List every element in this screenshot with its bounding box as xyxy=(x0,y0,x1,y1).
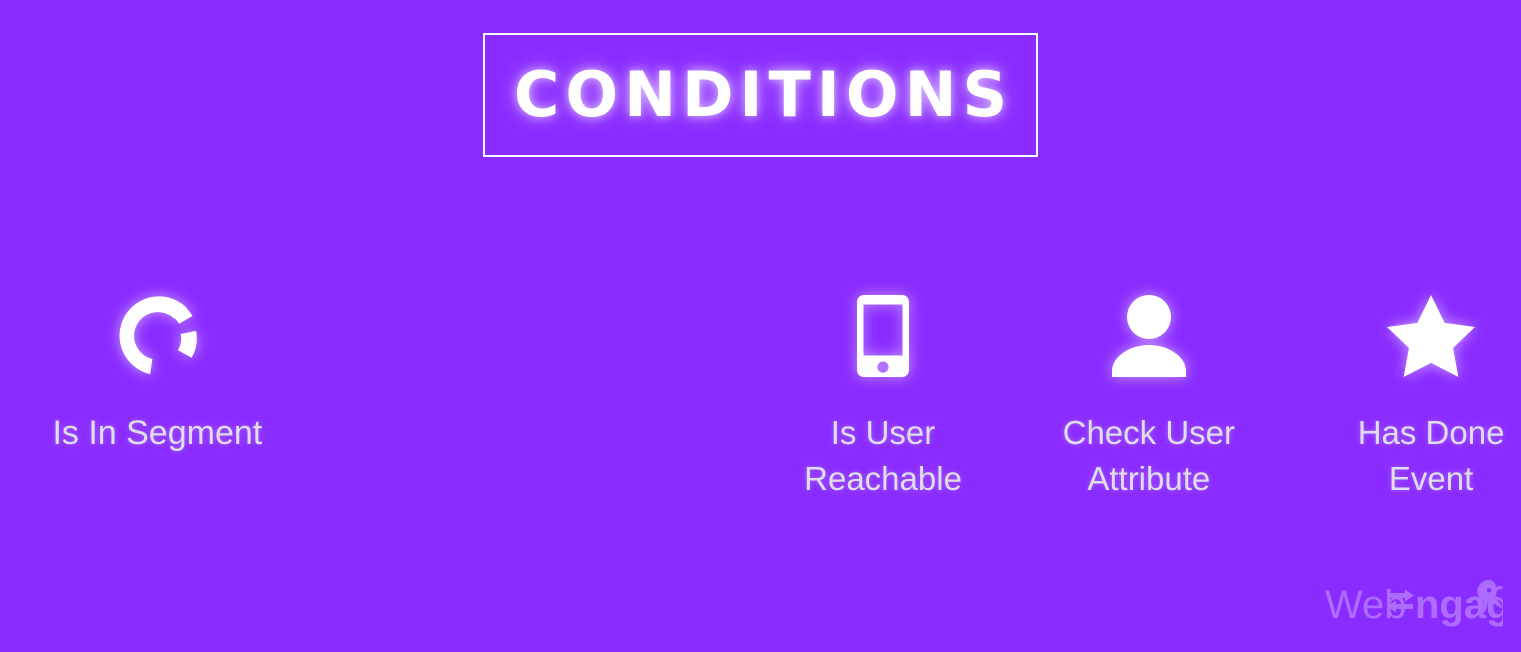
condition-card-label: Is In Segment xyxy=(52,410,262,456)
mobile-phone-icon xyxy=(857,288,909,384)
condition-card-label: Is User Reachable xyxy=(804,410,962,502)
condition-card-is-user-reachable[interactable]: Is User Reachable xyxy=(780,288,987,518)
slide-canvas: CONDITIONS Is In Segment xyxy=(0,0,1521,652)
condition-card-check-user-attribute[interactable]: Check User Attribute xyxy=(1045,288,1252,518)
condition-card-label: Check User Attribute xyxy=(1063,410,1235,502)
condition-card-label: Has Done Event xyxy=(1358,410,1505,502)
conditions-row: Is In Segment Is User Reachable C xyxy=(0,288,1521,518)
condition-card-has-done-event[interactable]: Has Done Event xyxy=(1341,288,1521,518)
user-person-icon xyxy=(1112,288,1186,384)
title-frame: CONDITIONS xyxy=(483,33,1038,157)
webengage-watermark-logo: Web ngage xyxy=(1325,574,1503,630)
page-title: CONDITIONS xyxy=(508,64,1013,126)
donut-segment-chart-icon xyxy=(116,288,198,384)
star-icon xyxy=(1387,288,1475,384)
condition-card-is-in-segment[interactable]: Is In Segment xyxy=(0,288,315,518)
